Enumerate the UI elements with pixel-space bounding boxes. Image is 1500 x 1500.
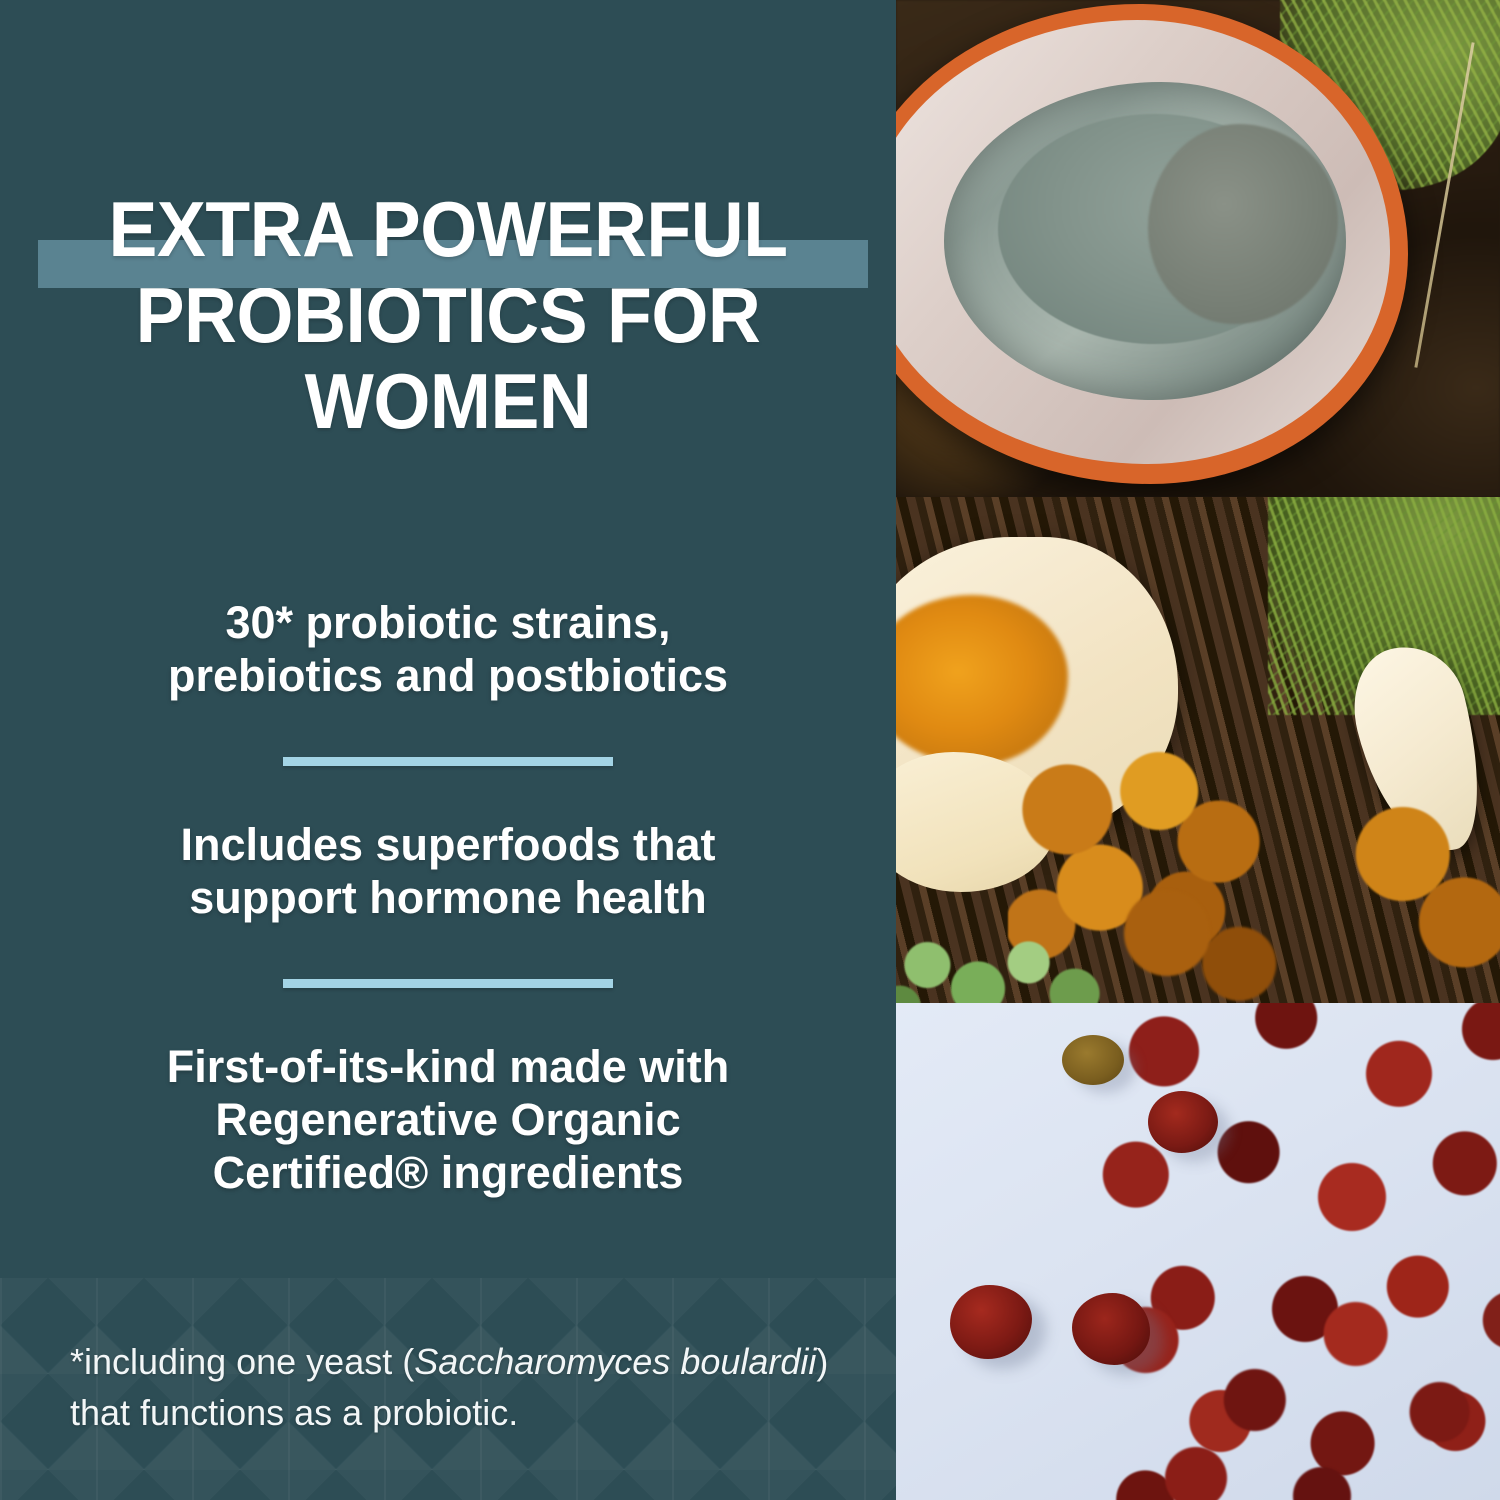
photo-column: [896, 0, 1500, 1500]
benefits-list: 30* probiotic strains, prebiotics and po…: [0, 596, 896, 1199]
benefit-divider-1: [283, 757, 613, 766]
single-berry: [1062, 1035, 1124, 1085]
benefit-1-line-1: 30* probiotic strains,: [96, 596, 800, 649]
footnote-species-name: Saccharomyces boulardii: [414, 1341, 816, 1382]
benefit-3-line-2: Regenerative Organic: [96, 1093, 800, 1146]
green-foliage: [896, 887, 1116, 1003]
benefit-2-line-2: support hormone health: [96, 871, 800, 924]
single-berry: [1148, 1091, 1218, 1153]
benefit-divider-2: [283, 979, 613, 988]
benefit-item-2: Includes superfoods that support hormone…: [0, 818, 896, 924]
page-title: EXTRA POWERFUL PROBIOTICS FOR WOMEN: [0, 186, 896, 444]
benefit-item-3: First-of-its-kind made with Regenerative…: [0, 1040, 896, 1199]
headline-line-3: WOMEN: [27, 358, 869, 444]
footnote-prefix: *including one yeast (: [70, 1341, 414, 1382]
benefit-3-line-3: Certified® ingredients: [96, 1146, 800, 1199]
single-berry: [1072, 1293, 1150, 1365]
product-feature-graphic: EXTRA POWERFUL PROBIOTICS FOR WOMEN 30* …: [0, 0, 1500, 1500]
headline-line-1: EXTRA POWERFUL: [27, 186, 869, 272]
orange-mushroom-cluster-lower: [1110, 877, 1300, 1003]
text-panel: EXTRA POWERFUL PROBIOTICS FOR WOMEN 30* …: [0, 0, 896, 1500]
right-mushroom-clump: [1338, 797, 1500, 987]
benefit-3-line-1: First-of-its-kind made with: [96, 1040, 800, 1093]
reishi-mushroom-photo: [896, 0, 1500, 497]
schisandra-berries-photo: [896, 1003, 1500, 1500]
benefit-1-line-2: prebiotics and postbiotics: [96, 649, 800, 702]
footnote: *including one yeast (Saccharomyces boul…: [70, 1336, 830, 1438]
benefit-item-1: 30* probiotic strains, prebiotics and po…: [0, 596, 896, 702]
golden-stain: [896, 595, 1068, 765]
benefit-2-line-1: Includes superfoods that: [96, 818, 800, 871]
bracket-fungi-photo: [896, 497, 1500, 1003]
berry-cluster-lower: [1070, 1250, 1490, 1500]
